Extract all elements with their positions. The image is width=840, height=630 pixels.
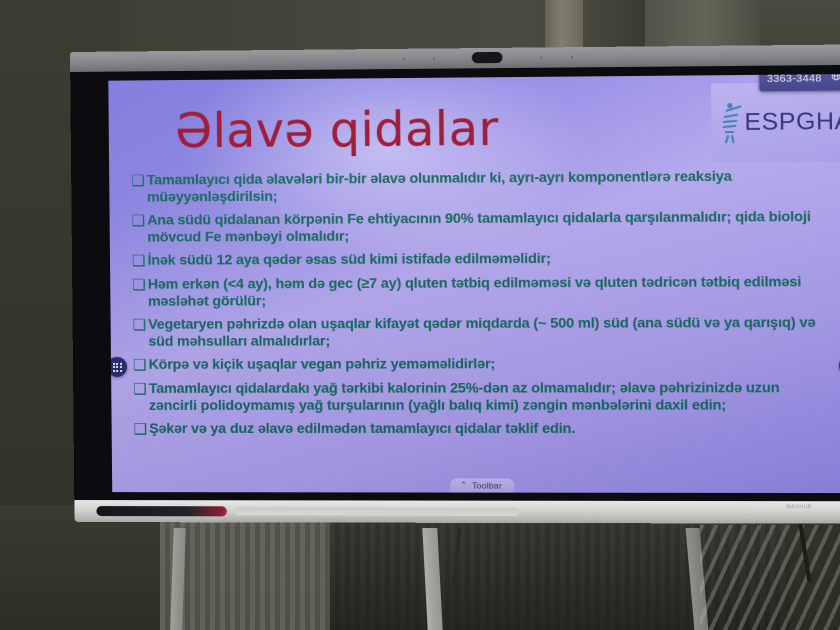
bullet-item: ❑Tamamlayıcı qida əlavələri bir-bir əlav… bbox=[131, 168, 829, 207]
bullet-text: Tamamlayıcı qida əlavələri bir-bir əlavə… bbox=[147, 168, 829, 207]
espghan-wordmark: ESPGHAN bbox=[744, 108, 840, 137]
bullet-marker-icon: ❑ bbox=[133, 381, 147, 399]
bullet-item: ❑Tamamlayıcı qidalardakı yağ tərkibi kal… bbox=[133, 380, 831, 415]
brand-mark: MAXHUB bbox=[786, 504, 811, 510]
session-id-badge[interactable]: 3363-3448 bbox=[758, 74, 840, 92]
bullet-text: Ana südü qidalanan körpənin Fe ehtiyacın… bbox=[147, 209, 829, 247]
bullet-marker-icon: ❑ bbox=[131, 173, 145, 191]
mic-dot bbox=[571, 56, 573, 58]
bullet-item: ❑Ana südü qidalanan körpənin Fe ehtiyacı… bbox=[132, 209, 830, 247]
presentation-slide[interactable]: Əlavə qidalar ❑Tamamlayıcı qida əlavələr… bbox=[108, 74, 840, 493]
bullet-item: ❑Şəkər və ya duz əlavə edilmədən tamamla… bbox=[134, 420, 832, 438]
bullet-item: ❑İnək südü 12 aya qədər əsas süd kimi is… bbox=[132, 250, 830, 271]
bullet-list: ❑Tamamlayıcı qida əlavələri bir-bir əlav… bbox=[131, 168, 831, 445]
bullet-marker-icon: ❑ bbox=[132, 253, 146, 271]
toolbar-label: Toolbar bbox=[472, 480, 502, 490]
pen-tray bbox=[235, 507, 519, 516]
page-title: Əlavə qidalar bbox=[175, 101, 499, 159]
bullet-marker-icon: ❑ bbox=[132, 277, 146, 295]
bullet-text: Şəkər və ya duz əlavə edilmədən tamamlay… bbox=[149, 420, 575, 437]
bullet-marker-icon: ❑ bbox=[133, 357, 147, 375]
bullet-text: Vegetaryen pəhrizdə olan uşaqlar kifayət… bbox=[148, 315, 830, 351]
stylus-pen[interactable] bbox=[96, 506, 227, 516]
espghan-figure-icon bbox=[719, 101, 744, 144]
grid-icon bbox=[112, 362, 121, 371]
mic-dot bbox=[403, 58, 405, 60]
globe-network-icon bbox=[830, 74, 840, 87]
bullet-marker-icon: ❑ bbox=[133, 317, 147, 335]
bullet-text: İnək südü 12 aya qədər əsas süd kimi ist… bbox=[147, 251, 550, 270]
bullet-text: Həm erkən (<4 ay), həm də gec (≥7 ay) ql… bbox=[148, 274, 830, 311]
bullet-marker-icon: ❑ bbox=[132, 213, 146, 231]
toolbar-toggle[interactable]: ⌃ Toolbar bbox=[450, 478, 514, 493]
bullet-text: Körpə və kiçik uşaqlar vegan pəhriz yemə… bbox=[148, 356, 495, 374]
wall-lower-left bbox=[0, 505, 160, 630]
bullet-marker-icon: ❑ bbox=[134, 421, 148, 439]
mic-dot bbox=[540, 57, 542, 59]
espghan-logo: ESPGHAN bbox=[711, 82, 840, 163]
bullet-item: ❑Vegetaryen pəhrizdə olan uşaqlar kifayə… bbox=[133, 315, 831, 351]
mic-dot bbox=[433, 58, 435, 60]
webcam-module bbox=[472, 52, 503, 63]
stand-brace bbox=[700, 525, 840, 630]
bullet-text: Tamamlayıcı qidalardakı yağ tərkibi kalo… bbox=[149, 380, 831, 415]
panel-frame: Əlavə qidalar ❑Tamamlayıcı qida əlavələr… bbox=[70, 65, 840, 502]
session-id-text: 3363-3448 bbox=[767, 74, 822, 85]
bullet-item: ❑Həm erkən (<4 ay), həm də gec (≥7 ay) q… bbox=[132, 274, 830, 311]
chevron-up-icon: ⌃ bbox=[460, 481, 467, 489]
grid-menu-handle-left[interactable] bbox=[108, 357, 127, 377]
interactive-display: Əlavə qidalar ❑Tamamlayıcı qida əlavələr… bbox=[70, 44, 840, 523]
screen[interactable]: Əlavə qidalar ❑Tamamlayıcı qida əlavələr… bbox=[108, 74, 840, 493]
bullet-item: ❑Körpə və kiçik uşaqlar vegan pəhriz yem… bbox=[133, 355, 831, 374]
